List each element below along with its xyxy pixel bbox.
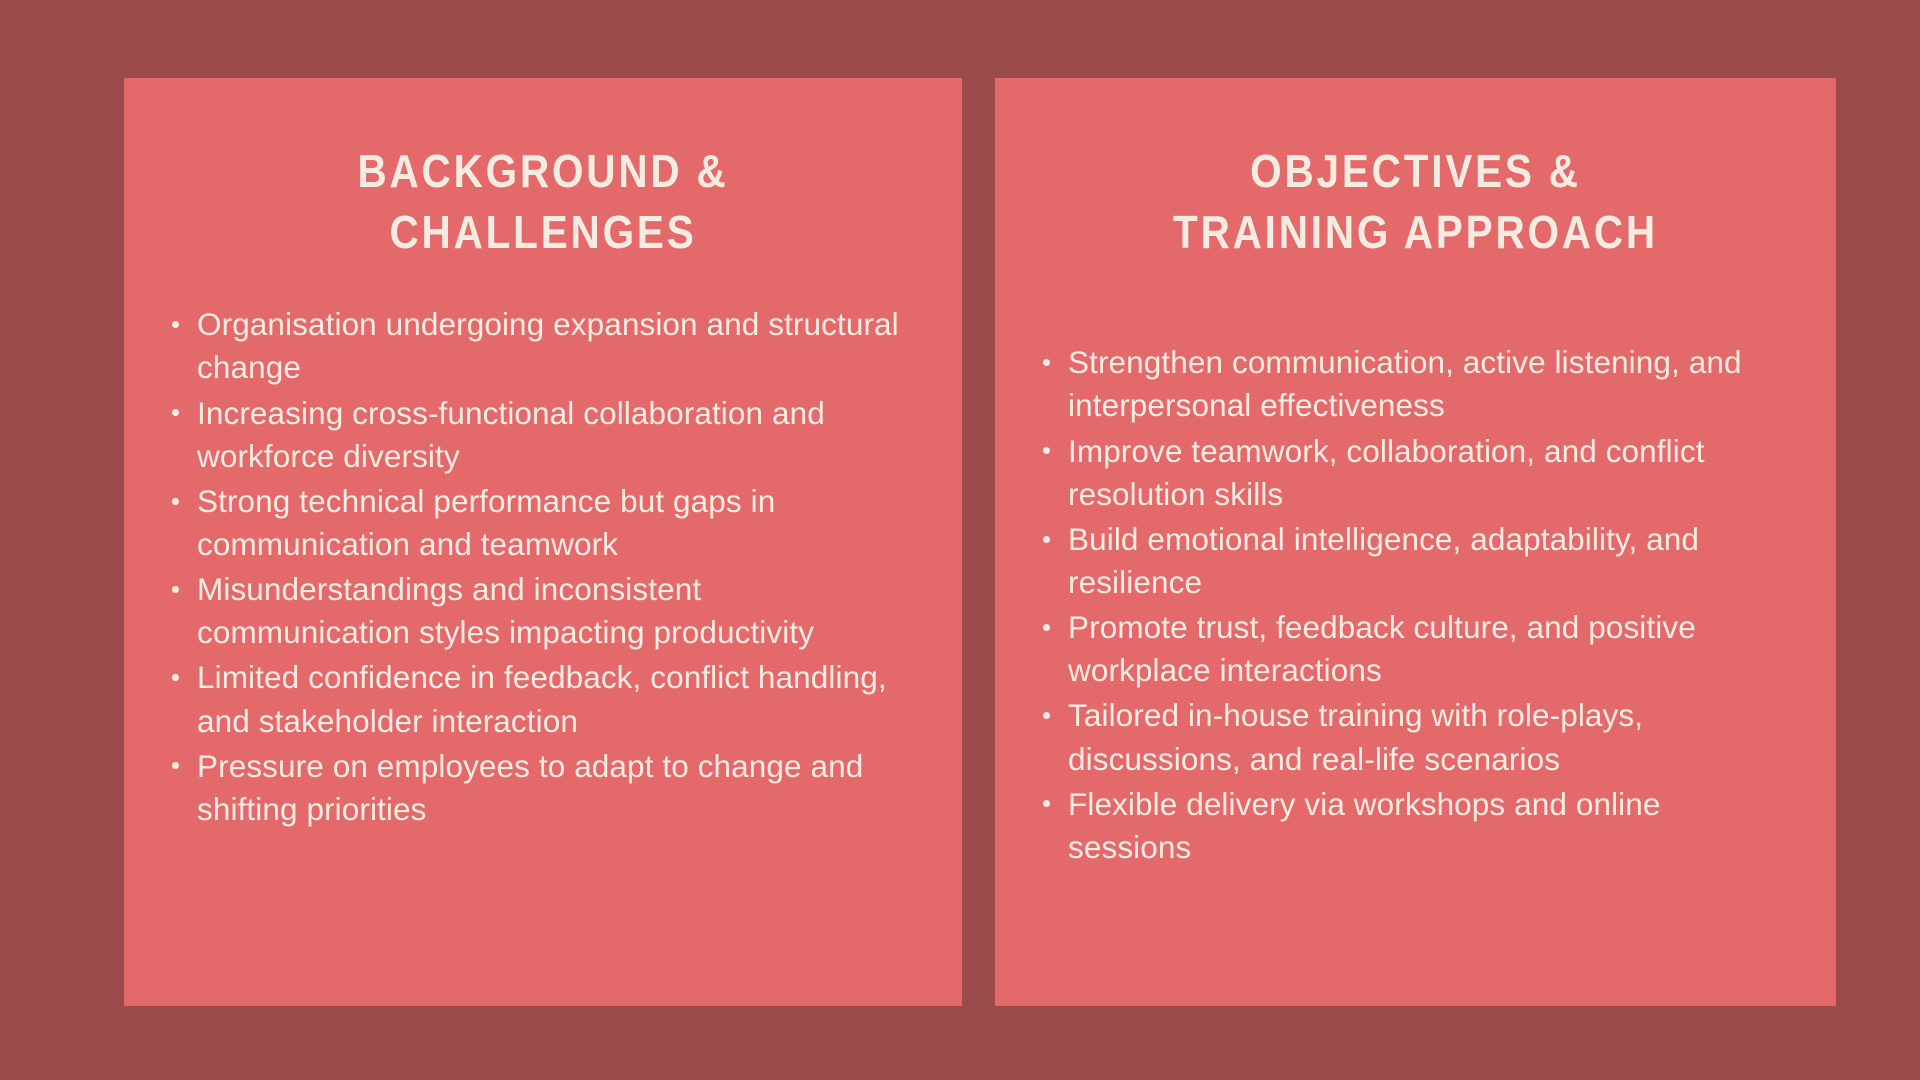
- bullet-text: Limited confidence in feedback, conflict…: [197, 656, 918, 742]
- list-item: Improve teamwork, collaboration, and con…: [1039, 430, 1792, 516]
- panel-background-challenges: BACKGROUND & CHALLENGES Organisation und…: [124, 78, 962, 1006]
- bullet-dot-icon: [172, 674, 179, 681]
- bullet-dot-icon: [1043, 447, 1050, 454]
- bullet-text: Strengthen communication, active listeni…: [1068, 341, 1792, 427]
- bullet-text: Promote trust, feedback culture, and pos…: [1068, 606, 1792, 692]
- bullet-text: Tailored in-house training with role-pla…: [1068, 694, 1792, 780]
- panel-objectives-training-approach: OBJECTIVES & TRAINING APPROACH Strengthe…: [995, 78, 1836, 1006]
- bullet-text: Organisation undergoing expansion and st…: [197, 303, 918, 389]
- list-item: Limited confidence in feedback, conflict…: [168, 656, 918, 742]
- bullet-dot-icon: [172, 321, 179, 328]
- bullet-text: Strong technical performance but gaps in…: [197, 480, 918, 566]
- bullet-text: Improve teamwork, collaboration, and con…: [1068, 430, 1792, 516]
- list-item: Misunderstandings and inconsistent commu…: [168, 568, 918, 654]
- list-item: Pressure on employees to adapt to change…: [168, 745, 918, 831]
- bullet-list-background-challenges: Organisation undergoing expansion and st…: [168, 303, 918, 831]
- bullet-dot-icon: [172, 409, 179, 416]
- bullet-dot-icon: [172, 762, 179, 769]
- bullet-dot-icon: [1043, 624, 1050, 631]
- list-item: Organisation undergoing expansion and st…: [168, 303, 918, 389]
- list-item: Increasing cross-functional collaboratio…: [168, 392, 918, 478]
- panel-title-objectives-training-approach: OBJECTIVES & TRAINING APPROACH: [1084, 141, 1747, 263]
- bullet-text: Pressure on employees to adapt to change…: [197, 745, 918, 831]
- bullet-dot-icon: [172, 498, 179, 505]
- list-item: Strengthen communication, active listeni…: [1039, 341, 1792, 427]
- list-item: Tailored in-house training with role-pla…: [1039, 694, 1792, 780]
- list-item: Strong technical performance but gaps in…: [168, 480, 918, 566]
- panel-title-background-challenges: BACKGROUND & CHALLENGES: [213, 141, 873, 263]
- slide-canvas: BACKGROUND & CHALLENGES Organisation und…: [0, 0, 1920, 1080]
- panel-row: BACKGROUND & CHALLENGES Organisation und…: [124, 78, 1836, 1006]
- bullet-text: Flexible delivery via workshops and onli…: [1068, 783, 1792, 869]
- bullet-dot-icon: [1043, 712, 1050, 719]
- bullet-dot-icon: [1043, 359, 1050, 366]
- bullet-text: Build emotional intelligence, adaptabili…: [1068, 518, 1792, 604]
- bullet-list-objectives-training-approach: Strengthen communication, active listeni…: [1039, 341, 1792, 869]
- bullet-dot-icon: [172, 586, 179, 593]
- list-item: Flexible delivery via workshops and onli…: [1039, 783, 1792, 869]
- list-item: Promote trust, feedback culture, and pos…: [1039, 606, 1792, 692]
- bullet-dot-icon: [1043, 800, 1050, 807]
- bullet-dot-icon: [1043, 536, 1050, 543]
- list-item: Build emotional intelligence, adaptabili…: [1039, 518, 1792, 604]
- bullet-text: Increasing cross-functional collaboratio…: [197, 392, 918, 478]
- bullet-text: Misunderstandings and inconsistent commu…: [197, 568, 918, 654]
